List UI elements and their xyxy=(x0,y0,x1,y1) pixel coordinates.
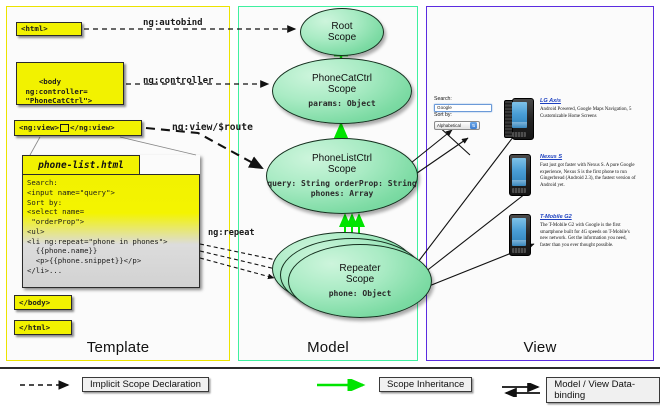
legend-label-scope-inheritance: Scope Inheritance xyxy=(379,377,472,392)
phone-snippet-1: Fast just got faster with Nexus S. A pur… xyxy=(540,163,636,189)
phone-text-1: Nexus S Fast just got faster with Nexus … xyxy=(540,154,636,194)
html-close-text: </html> xyxy=(19,323,50,333)
phone-snippet-2: The T-Mobile G2 with Google is the first… xyxy=(540,223,636,249)
panel-model-label: Model xyxy=(239,339,417,356)
view-rendered-page: Search: Google Sort by: Alphabetical ⇅ L… xyxy=(434,96,648,296)
html-tag-box: <html> xyxy=(16,22,82,36)
panel-template-label: Template xyxy=(7,339,229,356)
scope-phonelistctrl-title: PhoneListCtrlScope xyxy=(312,153,372,175)
legend-item-scope-inheritance: Scope Inheritance xyxy=(315,377,472,392)
ngview-close-text: </ng:view> xyxy=(70,123,115,133)
double-arrow-icon xyxy=(500,383,540,397)
scope-phonecatctrl-title: PhoneCatCtrlScope xyxy=(312,73,372,95)
view-sort-label: Sort by: xyxy=(434,112,496,120)
scope-phonelistctrl-props: query: String orderProp: String phones: … xyxy=(267,179,417,199)
scope-phonelistctrl: PhoneListCtrlScope query: String orderPr… xyxy=(266,138,418,214)
phone-text-0: LG Axis Android Powered, Google Maps Nav… xyxy=(540,98,636,138)
view-search-input[interactable]: Google xyxy=(434,104,492,112)
view-sort-select[interactable]: Alphabetical ⇅ xyxy=(434,121,480,130)
view-search-value: Google xyxy=(437,105,452,110)
phone-image-1 xyxy=(504,154,534,194)
scope-repeater-props: phone: Object xyxy=(329,289,392,299)
legend: Implicit Scope Declaration Scope Inherit… xyxy=(0,367,660,407)
phone-image-2 xyxy=(504,214,534,254)
ngview-tag-box: <ng:view></ng:view> xyxy=(14,120,142,136)
scope-root: RootScope xyxy=(300,8,384,56)
body-tag-text: <body ng:controller= "PhoneCatCtrl"> xyxy=(21,77,92,106)
partial-template-callout: phone-list.html Search: <input name="que… xyxy=(22,155,200,288)
view-phone-row: Nexus S Fast just got faster with Nexus … xyxy=(504,154,636,194)
scope-root-title: RootScope xyxy=(328,21,356,43)
legend-label-implicit-scope: Implicit Scope Declaration xyxy=(82,377,209,392)
partial-code: Search: <input name="query"> Sort by: <s… xyxy=(22,174,200,288)
view-search-controls: Search: Google Sort by: Alphabetical ⇅ xyxy=(434,96,496,130)
ngview-open-text: <ng:view> xyxy=(19,123,59,133)
view-search-label: Search: xyxy=(434,96,496,104)
scope-phonecatctrl: PhoneCatCtrlScope params: Object xyxy=(272,58,412,124)
view-phone-row: T-Mobile G2 The T-Mobile G2 with Google … xyxy=(504,214,636,254)
phone-link-1[interactable]: Nexus S xyxy=(540,154,636,161)
phone-bar-icon xyxy=(504,214,534,254)
green-arrow-icon xyxy=(315,379,373,391)
chevron-updown-icon: ⇅ xyxy=(470,122,477,129)
edge-label-ngrepeat: ng:repeat xyxy=(208,228,255,238)
phone-text-2: T-Mobile G2 The T-Mobile G2 with Google … xyxy=(540,214,636,254)
phone-link-2[interactable]: T-Mobile G2 xyxy=(540,214,636,221)
scope-repeater: RepeaterScope phone: Object xyxy=(288,244,432,318)
body-close-box: </body> xyxy=(14,295,72,310)
view-phone-row: LG Axis Android Powered, Google Maps Nav… xyxy=(504,98,636,138)
partial-filename: phone-list.html xyxy=(22,155,140,175)
legend-item-data-binding: Model / View Data-binding xyxy=(500,377,660,403)
legend-item-implicit-scope: Implicit Scope Declaration xyxy=(18,377,209,392)
edge-label-ngview-route: ng:view/$route xyxy=(172,122,253,133)
placeholder-square-icon xyxy=(60,124,69,132)
body-close-text: </body> xyxy=(19,298,50,308)
dashed-arrow-icon xyxy=(18,379,76,391)
phone-image-0 xyxy=(504,98,534,138)
phone-snippet-0: Android Powered, Google Maps Navigation,… xyxy=(540,107,636,120)
edge-label-controller: ng:controller xyxy=(143,76,213,86)
body-tag-box: <body ng:controller= "PhoneCatCtrl"> xyxy=(16,62,124,105)
html-close-box: </html> xyxy=(14,320,72,335)
edge-label-autobind: ng:autobind xyxy=(143,18,203,28)
phone-link-0[interactable]: LG Axis xyxy=(540,98,636,105)
phone-slider-icon xyxy=(504,98,534,138)
legend-label-data-binding: Model / View Data-binding xyxy=(546,377,660,403)
panel-view-label: View xyxy=(427,339,653,356)
phone-bar-icon xyxy=(504,154,534,194)
diagram-canvas: Template Model View xyxy=(0,0,660,405)
html-tag-text: <html> xyxy=(21,24,48,34)
scope-repeater-title: RepeaterScope xyxy=(339,263,380,285)
scope-phonecatctrl-props: params: Object xyxy=(308,99,375,109)
view-sort-value: Alphabetical xyxy=(437,123,461,128)
